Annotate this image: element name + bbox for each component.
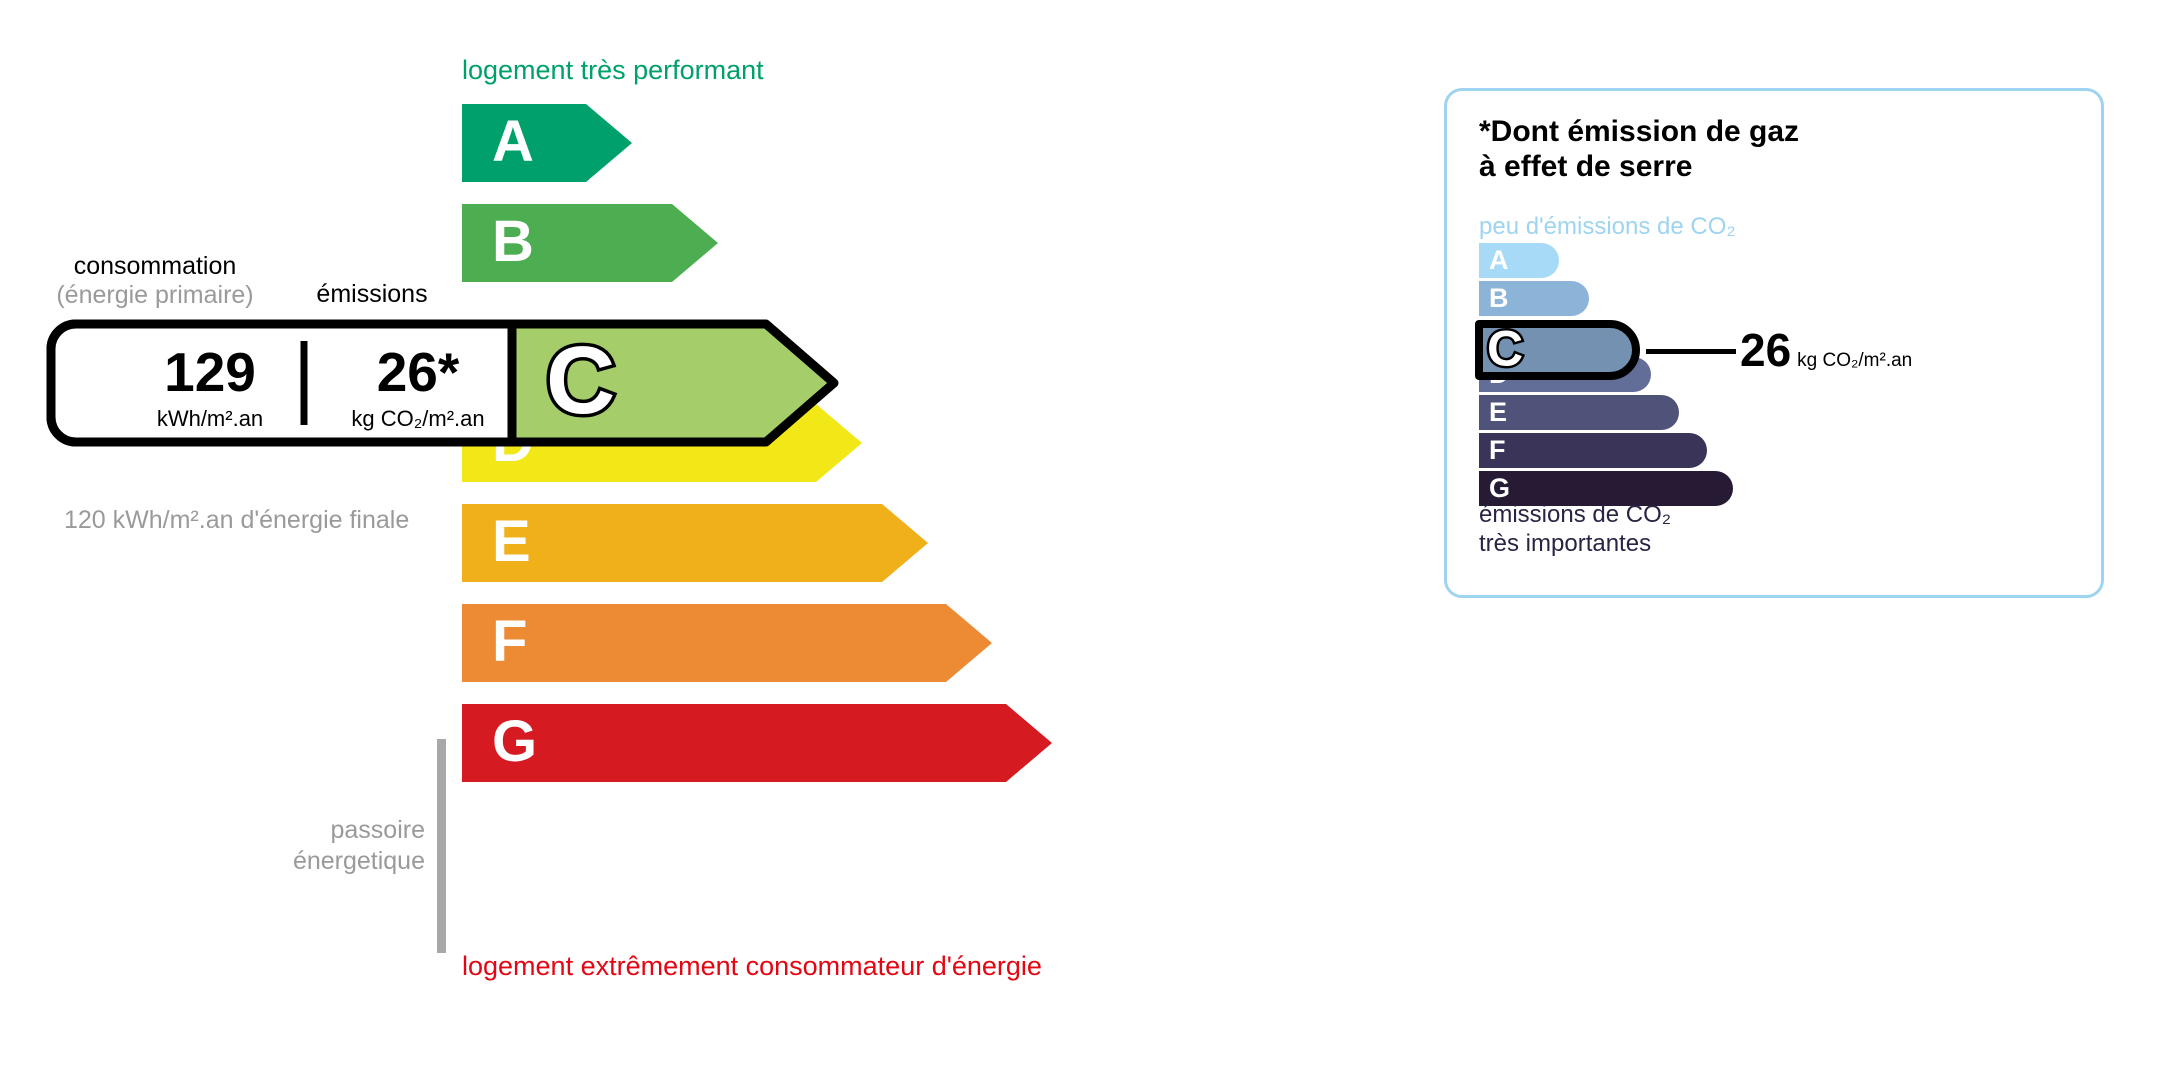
co2-value-number: 26 (1740, 324, 1791, 376)
emissions-value-cell: 26* kg CO₂/m².an (328, 345, 508, 430)
consumption-header: consommation (énergie primaire) (40, 252, 270, 310)
energy-arrow-f: F (462, 604, 992, 682)
consumption-unit: kWh/m².an (110, 408, 310, 430)
energy-arrow-a: A (462, 104, 632, 182)
co2-bar-letter-f: F (1489, 436, 1506, 463)
co2-bar-letter-e: E (1489, 398, 1507, 425)
co2-selected-letter: C (1487, 324, 1523, 374)
consumption-header-line1: consommation (74, 252, 237, 280)
co2-bar-letter-a: A (1489, 246, 1509, 273)
energy-arrow-b: B (462, 204, 718, 282)
consumption-value: 129 (110, 345, 310, 400)
selected-rating-letter: C (546, 333, 615, 429)
co2-panel-title: *Dont émission de gaz à effet de serre (1479, 114, 1799, 185)
consumption-header-line2: (énergie primaire) (40, 281, 270, 310)
co2-leader-line (1646, 349, 1736, 354)
co2-bar-b: B (1479, 281, 1589, 316)
co2-value-unit: kg CO₂/m².an (1797, 350, 1912, 371)
co2-top-caption: peu d'émissions de CO₂ (1479, 213, 1736, 241)
co2-bar-letter-b: B (1489, 284, 1509, 311)
emissions-header: émissions (292, 280, 452, 309)
co2-bar-f: F (1479, 433, 1707, 468)
final-energy-note: 120 kWh/m².an d'énergie finale (64, 505, 409, 536)
co2-bar-e: E (1479, 395, 1679, 430)
emissions-value: 26* (328, 345, 508, 400)
emissions-unit: kg CO₂/m².an (328, 408, 508, 430)
co2-bottom-caption: émissions de CO₂ très importantes (1479, 501, 1671, 559)
co2-bar-letter-g: G (1489, 474, 1510, 501)
co2-value-annotation: 26kg CO₂/m².an (1740, 323, 1912, 377)
ladder-top-caption: logement très performant (462, 55, 764, 86)
passoire-bracket (437, 739, 446, 953)
energy-arrow-g: G (462, 704, 1052, 782)
co2-bar-a: A (1479, 243, 1559, 278)
ladder-bottom-caption: logement extrêmement consommateur d'éner… (462, 951, 1042, 982)
passoire-label: passoire énergetique (230, 815, 425, 878)
energy-arrow-e: E (462, 504, 928, 582)
dpe-energy-label: logement très performant ABDEFG consomma… (0, 0, 2169, 1079)
consumption-value-cell: 129 kWh/m².an (110, 345, 310, 430)
co2-emissions-panel: *Dont émission de gaz à effet de serre p… (1444, 88, 2104, 598)
energy-ladder-panel: logement très performant ABDEFG consomma… (0, 0, 1400, 1079)
selected-rating-row: 129 kWh/m².an 26* kg CO₂/m².an C (46, 319, 882, 447)
co2-selected-row: C (1475, 320, 1640, 380)
